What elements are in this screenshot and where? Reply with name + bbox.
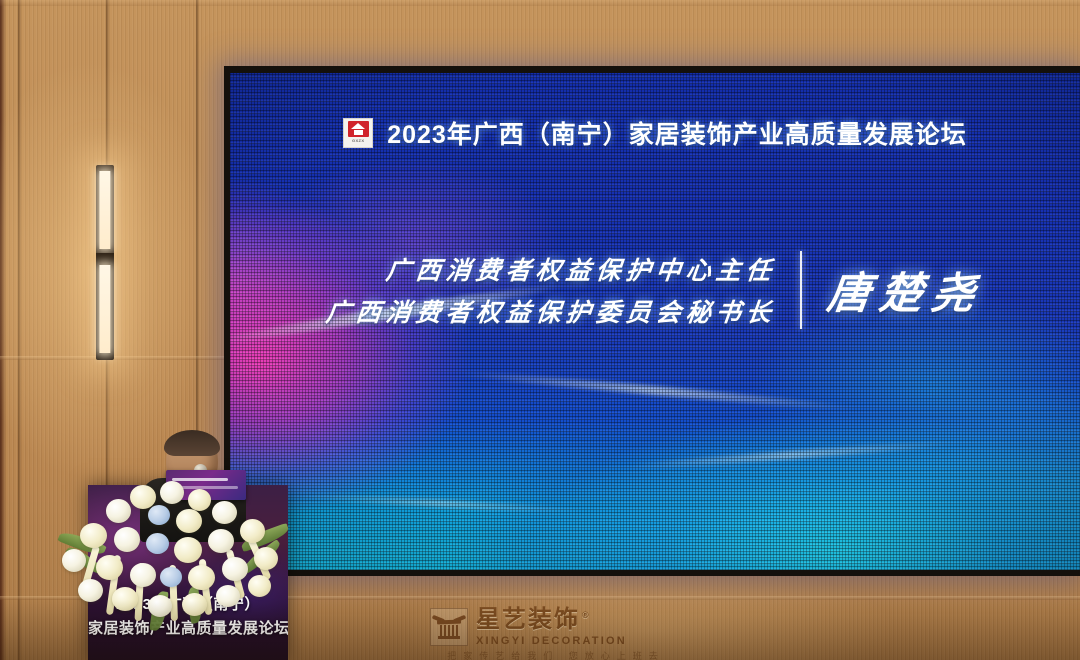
flower-bloom (188, 565, 215, 590)
emblem-roof (437, 620, 461, 625)
emblem-base (438, 636, 460, 639)
flower-bloom (208, 529, 234, 553)
flower-bloom (248, 575, 271, 597)
led-screen: GXZX 2023年广西（南宁）家居装饰产业高质量发展论坛 广西消费者权益保护中… (230, 73, 1080, 570)
speaker-title-line-2: 广西消费者权益保护委员会秘书长 (324, 293, 778, 329)
led-screen-frame: GXZX 2023年广西（南宁）家居装饰产业高质量发展论坛 广西消费者权益保护中… (224, 66, 1080, 576)
brand-slogan: 把家传艺给我们 您放心上班去 (430, 649, 682, 660)
wall-seam (0, 0, 6, 660)
flower-bloom-blue (160, 567, 182, 587)
flower-bloom (216, 585, 240, 607)
credit-divider (800, 251, 802, 329)
sconce-mid-bracket (96, 253, 114, 262)
wall-sconce-light (96, 165, 114, 360)
brand-text-group: 星艺装饰® XINGYI DECORATION (476, 608, 627, 647)
flower-bloom (240, 519, 265, 543)
flower-bloom (80, 523, 107, 548)
xingyi-emblem-icon (430, 608, 468, 646)
flower-bloom (130, 485, 156, 509)
registered-mark: ® (582, 610, 591, 620)
speaker-name: 唐楚尧 (824, 259, 988, 321)
flower-bloom (176, 509, 202, 533)
flower-bloom (188, 489, 211, 511)
logo-caption: GXZX (352, 138, 365, 143)
flower-bloom (96, 555, 123, 580)
flower-bloom (174, 537, 202, 563)
forum-house-logo-icon: GXZX (343, 118, 373, 148)
forum-title: 2023年广西（南宁）家居装饰产业高质量发展论坛 (387, 115, 967, 151)
flower-bloom (148, 595, 172, 617)
flower-bloom (130, 563, 156, 587)
flower-bloom (254, 547, 278, 570)
floral-arrangement (56, 479, 294, 624)
wall-seam (18, 0, 21, 660)
flower-bloom-blue (146, 533, 169, 554)
speaker-titles: 广西消费者权益保护中心主任 广西消费者权益保护委员会秘书长 (326, 251, 776, 329)
flower-bloom-blue (148, 505, 170, 525)
flower-bloom (78, 579, 103, 602)
speaker-credit-block: 广西消费者权益保护中心主任 广西消费者权益保护委员会秘书长 唐楚尧 (230, 251, 1080, 329)
brand-name-cn: 星艺装饰® (476, 608, 627, 632)
screen-header: GXZX 2023年广西（南宁）家居装饰产业高质量发展论坛 (230, 115, 1080, 151)
house-glyph (348, 121, 369, 137)
speaker-hair (164, 430, 220, 456)
flower-bloom (160, 481, 184, 504)
brand-name-en: XINGYI DECORATION (476, 636, 627, 647)
flower-bloom (182, 593, 207, 616)
flower-bloom (114, 527, 140, 552)
speaker-title-line-1: 广西消费者权益保护中心主任 (384, 251, 778, 287)
flower-bloom (106, 499, 131, 523)
wall-band (0, 0, 1080, 6)
brand-name-cn-text: 星艺装饰 (476, 606, 580, 633)
sconce-tube-upper (99, 171, 110, 249)
flower-bloom (212, 501, 237, 524)
flower-bloom (112, 587, 138, 611)
flower-bloom (222, 557, 248, 581)
sconce-tube-lower (99, 265, 110, 353)
stage-photo-scene: GXZX 2023年广西（南宁）家居装饰产业高质量发展论坛 广西消费者权益保护中… (0, 0, 1080, 660)
flower-bloom (62, 549, 86, 572)
